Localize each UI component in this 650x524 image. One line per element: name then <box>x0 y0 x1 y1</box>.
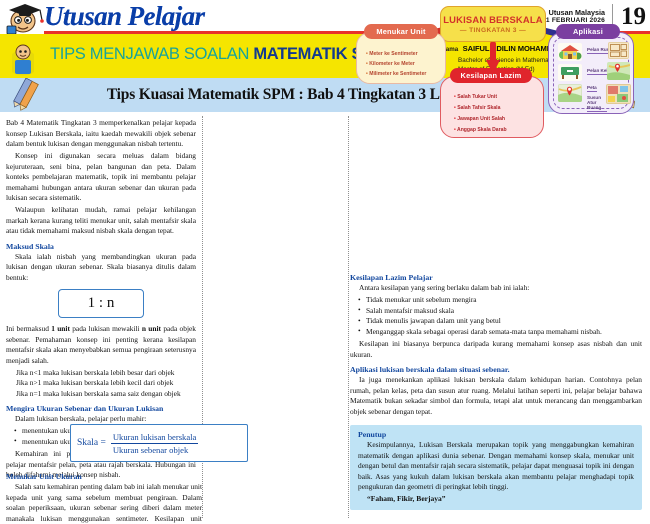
classroom-desk-icon <box>558 64 582 81</box>
map-pin-icon <box>558 84 582 102</box>
kesilapan-bullet-list: Tidak menukar unit sebelum mengira Salah… <box>350 295 642 337</box>
mindmap-item: Salah Tafsir Skala <box>454 105 500 111</box>
menukar-unit-section: Menukar Unit Ukuran Salah satu kemahiran… <box>6 472 202 524</box>
mindmap-item: Salah Tukar Unit <box>454 94 497 100</box>
house-icon <box>558 43 582 61</box>
aplikasi-paragraph-1: Ia juga menekankan aplikasi lukisan bers… <box>350 375 642 417</box>
text-frag-bold: n unit <box>142 324 161 333</box>
mindmap-central-title: LUKISAN BERSKALA <box>443 14 543 25</box>
mindmap-item: Kilometer ke Meter <box>366 61 415 67</box>
masthead-brand: Utusan Pelajar <box>44 1 204 32</box>
maksud-paragraph-1: Skala ialah nisbah yang membandingkan uk… <box>6 252 196 284</box>
mindmap-branch-aplikasi: Pelan Rumah <box>548 32 634 114</box>
text-frag: pada lukisan mewakili <box>70 324 142 333</box>
article-body: Bab 4 Matematik Tingkatan 3 memperkenalk… <box>0 112 650 524</box>
list-item: Jika n=1 maka lukisan berskala sama saiz… <box>6 389 196 400</box>
mindmap-item: Anggap Skala Darab <box>454 127 507 133</box>
left-column: Bab 4 Matematik Tingkatan 3 memperkenalk… <box>6 118 202 524</box>
scale-formula-box: Skala = Ukuran lukisan berskala Ukuran s… <box>70 424 248 462</box>
mindmap-label-menukar-unit: Menukar Unit <box>364 24 438 39</box>
heading-kesilapan-lazim: Kesilapan Lazim Pelajar <box>350 273 642 282</box>
text-frag: Ini bermaksud <box>6 324 51 333</box>
list-item: Salah mentafsir maksud skala <box>350 306 642 317</box>
maksud-paragraph-2: Ini bermaksud 1 unit pada lukisan mewaki… <box>6 324 196 366</box>
penutup-box: Penutup Kesimpulannya, Lukisan Berskala … <box>350 425 642 510</box>
middle-column <box>202 118 344 524</box>
ratio-formula-box: 1 : n <box>58 289 144 318</box>
band-tips-label: TIPS MENJAWAB SOALAN <box>50 45 253 63</box>
scale-rules-list: Jika n<1 maka lukisan berskala lebih bes… <box>6 368 196 400</box>
mindmap-item: Milimeter ke Sentimeter <box>366 71 426 77</box>
right-column: Kesilapan Lazim Pelajar Antara kesilapan… <box>344 118 642 524</box>
mindmap-item: Meter ke Sentimeter <box>366 51 418 57</box>
aplikasi-label-susun-atur-ruang: Susun Atur Ruang <box>587 95 607 112</box>
formula-numerator: Ukuran lukisan berskala <box>111 432 199 444</box>
intro-paragraph-2: Konsep ini digunakan secara meluas dalam… <box>6 151 196 204</box>
closing-quote: “Faham, Fikir, Berjaya” <box>358 494 634 503</box>
scale-formula-wrapper: Skala = Ukuran lukisan berskala Ukuran s… <box>70 424 248 462</box>
penutup-paragraph: Kesimpulannya, Lukisan Berskala merupaka… <box>358 440 634 493</box>
list-item: Tidak menulis jawapan dalam unit yang be… <box>350 316 642 327</box>
floorplan-icon <box>608 42 629 59</box>
formula-fraction: Ukuran lukisan berskala Ukuran sebenar o… <box>111 432 199 455</box>
pencil-ruler-icon <box>6 78 46 112</box>
mindmap-central-node: LUKISAN BERSKALA TINGKATAN 3 <box>440 6 546 42</box>
intro-paragraph-1: Bab 4 Matematik Tingkatan 3 memperkenalk… <box>6 118 196 150</box>
kesilapan-paragraph-1: Antara kesilapan yang sering berlaku dal… <box>350 283 642 294</box>
mascot-body-icon <box>2 40 44 78</box>
heading-mengira-ukuran: Mengira Ukuran Sebenar dan Ukuran Lukisa… <box>6 404 196 413</box>
list-item: Menganggap skala sebagai operasi darab s… <box>350 327 642 338</box>
formula-denominator: Ukuran sebenar objek <box>111 444 199 455</box>
heading-penutup: Penutup <box>358 430 634 439</box>
graduate-mascot-icon <box>3 0 47 36</box>
mindmap-item: Jawapan Unit Salah <box>454 116 505 122</box>
formula-lhs: Skala = <box>77 438 111 448</box>
kesilapan-paragraph-2: Kesilapan ini biasanya berpunca daripada… <box>350 339 642 360</box>
intro-paragraph-3: Walaupun kelihatan mudah, ramai pelajar … <box>6 205 196 237</box>
newspaper-page: Utusan Pelajar Utusan Malaysia RABU • 11… <box>0 0 650 524</box>
map-pin-icon <box>607 62 630 80</box>
band-title: TIPS MENJAWAB SOALAN MATEMATIK SPM <box>50 45 386 64</box>
heading-aplikasi: Aplikasi lukisan berskala dalam situasi … <box>350 365 642 374</box>
floorplan-icon <box>606 84 631 104</box>
menukar-paragraph-1: Salah satu kemahiran penting dalam bab i… <box>6 482 202 524</box>
list-item: Jika n<1 maka lukisan berskala lebih bes… <box>6 368 196 379</box>
mindmap-branch-kesilapan-lazim: Salah Tukar Unit Salah Tafsir Skala Jawa… <box>440 76 544 138</box>
mindmap-label-aplikasi: Aplikasi <box>556 24 620 39</box>
list-item: Jika n>1 maka lukisan berskala lebih kec… <box>6 378 196 389</box>
mindmap-central-sub: TINGKATAN 3 <box>460 27 526 34</box>
list-item: Tidak menukar unit sebelum mengira <box>350 295 642 306</box>
heading-maksud-skala: Maksud Skala <box>6 242 196 251</box>
aplikasi-label-peta: Peta <box>587 85 597 92</box>
text-frag-bold: 1 unit <box>51 324 70 333</box>
heading-menukar-unit: Menukar Unit Ukuran <box>6 472 202 481</box>
mindmap-branch-menukar-unit: Meter ke Sentimeter Kilometer ke Meter M… <box>356 32 446 84</box>
mindmap-label-kesilapan-lazim: Kesilapan Lazim <box>450 68 532 83</box>
mindmap-diagram: LUKISAN BERSKALA TINGKATAN 3 Meter ke Se… <box>352 6 644 154</box>
